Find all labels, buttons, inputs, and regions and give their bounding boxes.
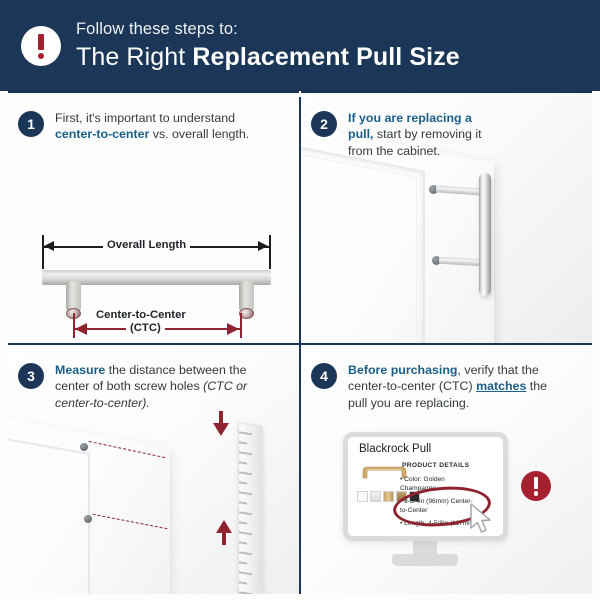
measure-arrow-up-icon bbox=[216, 520, 232, 533]
exclamation-circle-icon bbox=[21, 26, 61, 66]
measure-arrow-down-icon bbox=[213, 423, 229, 436]
ruler-tick bbox=[239, 471, 252, 475]
ruler-tick bbox=[239, 571, 252, 575]
step-1-text: First, it's important to understand cent… bbox=[55, 110, 260, 143]
product-title: Blackrock Pull bbox=[359, 443, 431, 455]
pull-bar bbox=[479, 173, 491, 296]
product-details-heading: PRODUCT DETAILS bbox=[402, 462, 469, 469]
overall-length-label: Overall Length bbox=[103, 239, 190, 251]
screw-hole-top-3 bbox=[80, 443, 88, 451]
pull-dimension-diagram: Overall Length Center-to-Center (CTC) No… bbox=[8, 163, 299, 343]
step-panel-2: 2 If you are replacing a pull, start by … bbox=[301, 93, 592, 343]
ruler-tick bbox=[239, 531, 252, 535]
step-number-4: 4 bbox=[311, 363, 337, 389]
exclamation-circle-icon-card bbox=[521, 471, 551, 501]
step-2-text: If you are replacing a pull, start by re… bbox=[348, 110, 493, 159]
step-2-header: 2 If you are replacing a pull, start by … bbox=[311, 110, 493, 159]
step-4-text: Before purchasing, verify that the cente… bbox=[348, 362, 553, 411]
infographic-root: Follow these steps to: The Right Replace… bbox=[0, 0, 600, 600]
step-3-header: 3 Measure the distance between the cente… bbox=[18, 362, 260, 411]
step-4-header: 4 Before purchasing, verify that the cen… bbox=[311, 362, 553, 411]
mouse-cursor-icon bbox=[469, 503, 495, 535]
ruler-tick bbox=[239, 431, 252, 435]
ruler-tick bbox=[239, 561, 247, 564]
ctc-arrow-left bbox=[75, 323, 87, 335]
ruler-tick bbox=[239, 551, 252, 555]
ctc-arrow-right bbox=[227, 323, 239, 335]
thumbnail-2[interactable] bbox=[370, 491, 381, 502]
thumbnail-1[interactable] bbox=[357, 491, 368, 502]
ruler-tick bbox=[239, 441, 247, 444]
ruler-tick bbox=[239, 581, 247, 584]
ctc-label-line2: (CTC) bbox=[126, 322, 165, 334]
ruler-tick bbox=[239, 591, 252, 594]
ctc-tick-right bbox=[240, 313, 242, 338]
step-1-header: 1 First, it's important to understand ce… bbox=[18, 110, 260, 143]
ruler bbox=[238, 422, 262, 594]
thumbnail-3[interactable] bbox=[383, 491, 394, 502]
page-title: The Right Replacement Pull Size bbox=[76, 45, 460, 70]
steps-grid: 1 First, it's important to understand ce… bbox=[0, 91, 600, 600]
ruler-tick bbox=[239, 491, 252, 495]
overall-length-arrow-right bbox=[258, 241, 268, 251]
monitor-base bbox=[392, 554, 458, 566]
ctc-label-line1: Center-to-Center bbox=[96, 309, 186, 321]
ruler-tick bbox=[239, 541, 247, 544]
ruler-tick bbox=[239, 461, 247, 464]
screw-hole-bottom-3 bbox=[84, 515, 92, 523]
step-number-2: 2 bbox=[311, 111, 337, 137]
ruler-tick bbox=[239, 521, 247, 524]
step-panel-4: Blackrock Pull PRODUCT DETAILS • Color: … bbox=[301, 345, 592, 594]
step-panel-1: 1 First, it's important to understand ce… bbox=[8, 93, 299, 343]
header-eyebrow: Follow these steps to: bbox=[76, 21, 460, 38]
header-text: Follow these steps to: The Right Replace… bbox=[76, 21, 460, 70]
ruler-tick bbox=[239, 511, 252, 515]
step-number-1: 1 bbox=[18, 111, 44, 137]
step-3-text: Measure the distance between the center … bbox=[55, 362, 260, 411]
overall-length-tick-right bbox=[269, 235, 271, 269]
ruler-tick bbox=[239, 481, 247, 484]
ruler-tick bbox=[239, 501, 247, 504]
ruler-tick bbox=[239, 451, 252, 455]
header-banner: Follow these steps to: The Right Replace… bbox=[0, 0, 600, 91]
title-light: The Right bbox=[76, 43, 192, 71]
step-number-3: 3 bbox=[18, 363, 44, 389]
title-bold: Replacement Pull Size bbox=[192, 43, 459, 71]
overall-length-arrow-left bbox=[44, 241, 54, 251]
step-panel-3: 3 Measure the distance between the cente… bbox=[8, 345, 299, 594]
